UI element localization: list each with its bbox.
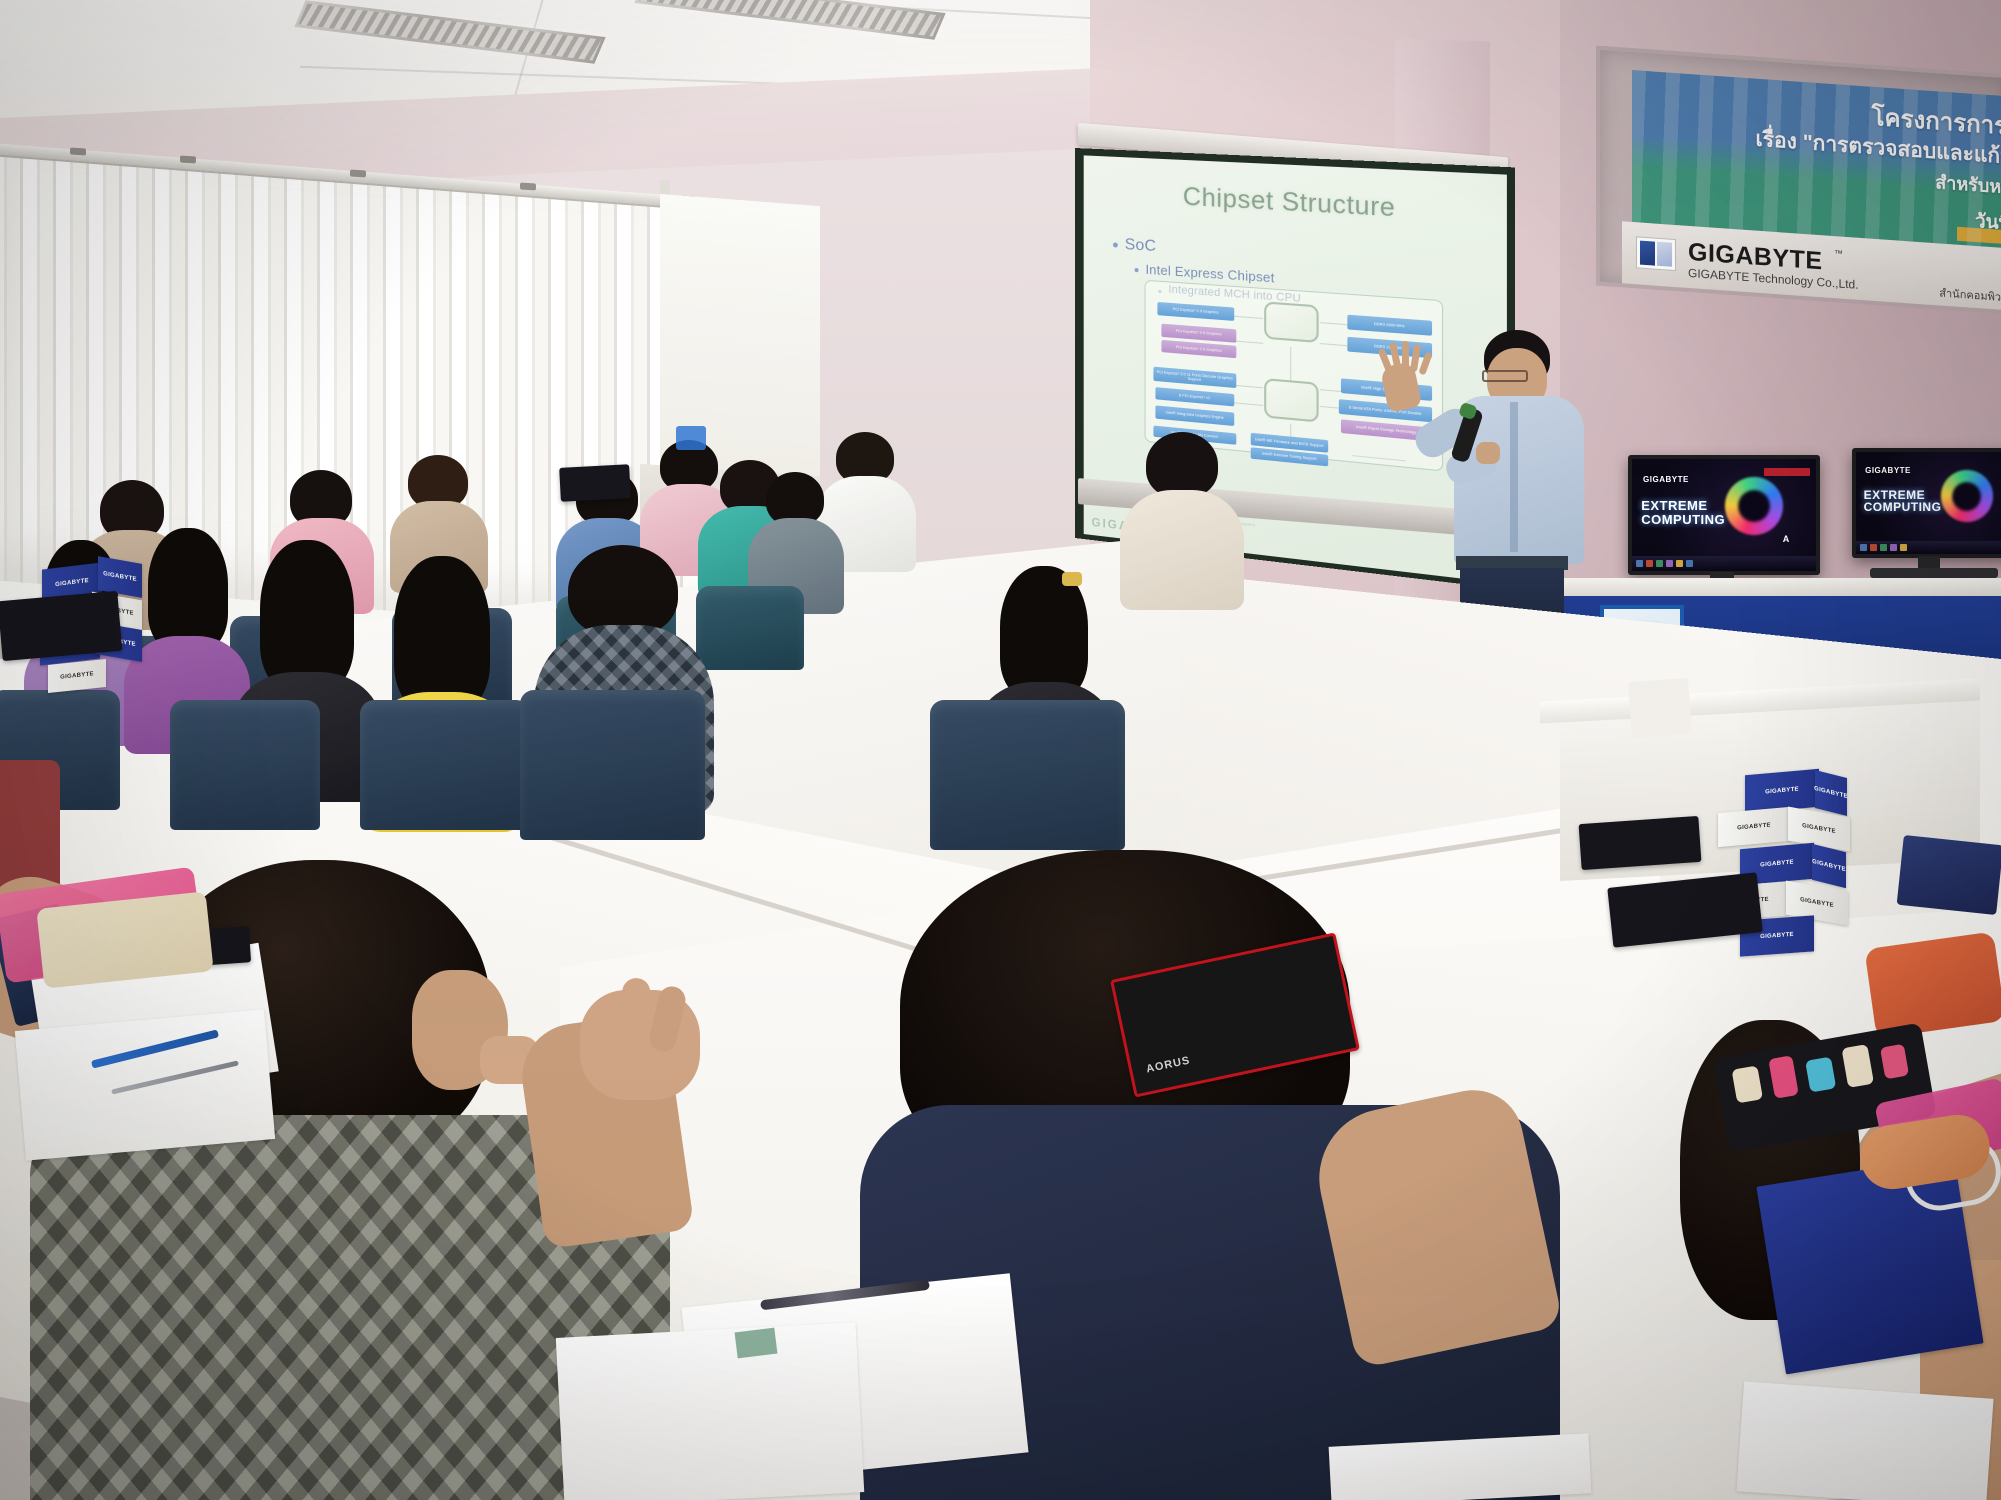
green-sticker: [735, 1328, 778, 1359]
blue-object: [676, 426, 706, 450]
diagram-block: PCI Express* 2.0 x1 Ports Discrete Graph…: [1153, 367, 1236, 388]
chair[interactable]: [360, 700, 530, 830]
banner-line-1: โครงการการ: [1872, 97, 2001, 145]
monitor-1[interactable]: GIGABYTE EXTREMECOMPUTING A: [1628, 455, 1820, 575]
bag-on-table: [0, 591, 122, 661]
seminar-room-photo: Chipset Structure SoC Intel Express Chip…: [0, 0, 2001, 1500]
presenter-right-hand: [1476, 442, 1500, 464]
diagram-chip-pch: [1264, 378, 1318, 422]
white-box: [1628, 678, 1692, 738]
banner-line-4: วันที่ 1: [1975, 206, 2001, 240]
monitor-1-screen: GIGABYTE EXTREMECOMPUTING A: [1632, 459, 1816, 571]
diagram-chip-processor: [1264, 301, 1318, 343]
diagram-block: PCI Express* 2.0 Graphics: [1161, 340, 1236, 358]
electronics-device: [1579, 816, 1702, 870]
laptop-on-table: [559, 464, 631, 502]
gigabyte-box: GIGABYTE: [1815, 770, 1847, 816]
monitor-taskbar[interactable]: [1856, 541, 2001, 554]
paper-sheet: [556, 1322, 864, 1500]
chair[interactable]: [520, 690, 705, 840]
trademark-symbol: ™: [1834, 248, 1843, 259]
diagram-block: DDR3 1600 MHz: [1347, 315, 1432, 336]
slide-bullet-l1: SoC: [1113, 235, 1156, 256]
presenter-shirt-placket: [1510, 402, 1518, 552]
orange-bag: [1864, 931, 2001, 1038]
monitor-aorus-mark: A: [1783, 534, 1791, 544]
event-banner-sheet: โครงการการ เรื่อง "การตรวจสอบและแก้ปัญหา…: [1632, 70, 2001, 249]
diagram-block: 8 PCI Express* x1: [1155, 387, 1234, 406]
bullet-dot-icon: [1113, 242, 1118, 247]
blue-component-box: [1897, 835, 2001, 915]
blind-clip: [70, 147, 86, 155]
monitor-brand-label: GIGABYTE: [1865, 466, 1911, 475]
slide-bullet-text: SoC: [1125, 236, 1156, 256]
chair[interactable]: [170, 700, 320, 830]
monitor-brand-label: GIGABYTE: [1643, 475, 1689, 484]
monitor-headline: EXTREMECOMPUTING: [1641, 499, 1725, 526]
monitor-2[interactable]: GIGABYTE EXTREMECOMPUTING: [1852, 448, 2001, 558]
gigabyte-logo-icon: [1636, 236, 1676, 271]
monitor-2-base: [1870, 568, 1998, 578]
monitor-taskbar[interactable]: [1632, 556, 1816, 571]
blind-clip: [350, 169, 366, 177]
diagram-block: Intel® Integrated Graphics Engine: [1155, 405, 1234, 426]
monitor-2-screen: GIGABYTE EXTREMECOMPUTING: [1856, 452, 2001, 554]
banner-line-3: สำหรับหน่วยงา: [1935, 167, 2001, 204]
monitor-corner-tag: [1764, 468, 1810, 476]
banner-thai-org: สำนักคอมพิว: [1939, 283, 2001, 305]
slide-title: Chipset Structure: [1084, 177, 1507, 229]
event-banner-frame: โครงการการ เรื่อง "การตรวจสอบและแก้ปัญหา…: [1596, 45, 2001, 314]
chair[interactable]: [696, 586, 804, 670]
mousepad-brand: AORUS: [1145, 1054, 1191, 1075]
bullet-dot-icon: [1135, 268, 1139, 272]
banner-accent-block: [1957, 227, 2001, 244]
gigabyte-box: GIGABYTE: [1718, 807, 1790, 847]
presenter-glasses-icon: [1482, 370, 1528, 382]
banner-line-2: เรื่อง "การตรวจสอบและแก้ปัญหา: [1756, 123, 2001, 177]
blind-clip: [180, 155, 196, 163]
paper-stack: [1736, 1381, 1993, 1500]
blind-clip: [520, 182, 536, 190]
chair[interactable]: [930, 700, 1125, 850]
monitor-headline: EXTREMECOMPUTING: [1864, 489, 1942, 514]
presenter: [1424, 330, 1614, 630]
hair-clip: [1062, 572, 1082, 586]
diagram-block: PCI Express* 2.0 Graphics: [1157, 302, 1234, 321]
